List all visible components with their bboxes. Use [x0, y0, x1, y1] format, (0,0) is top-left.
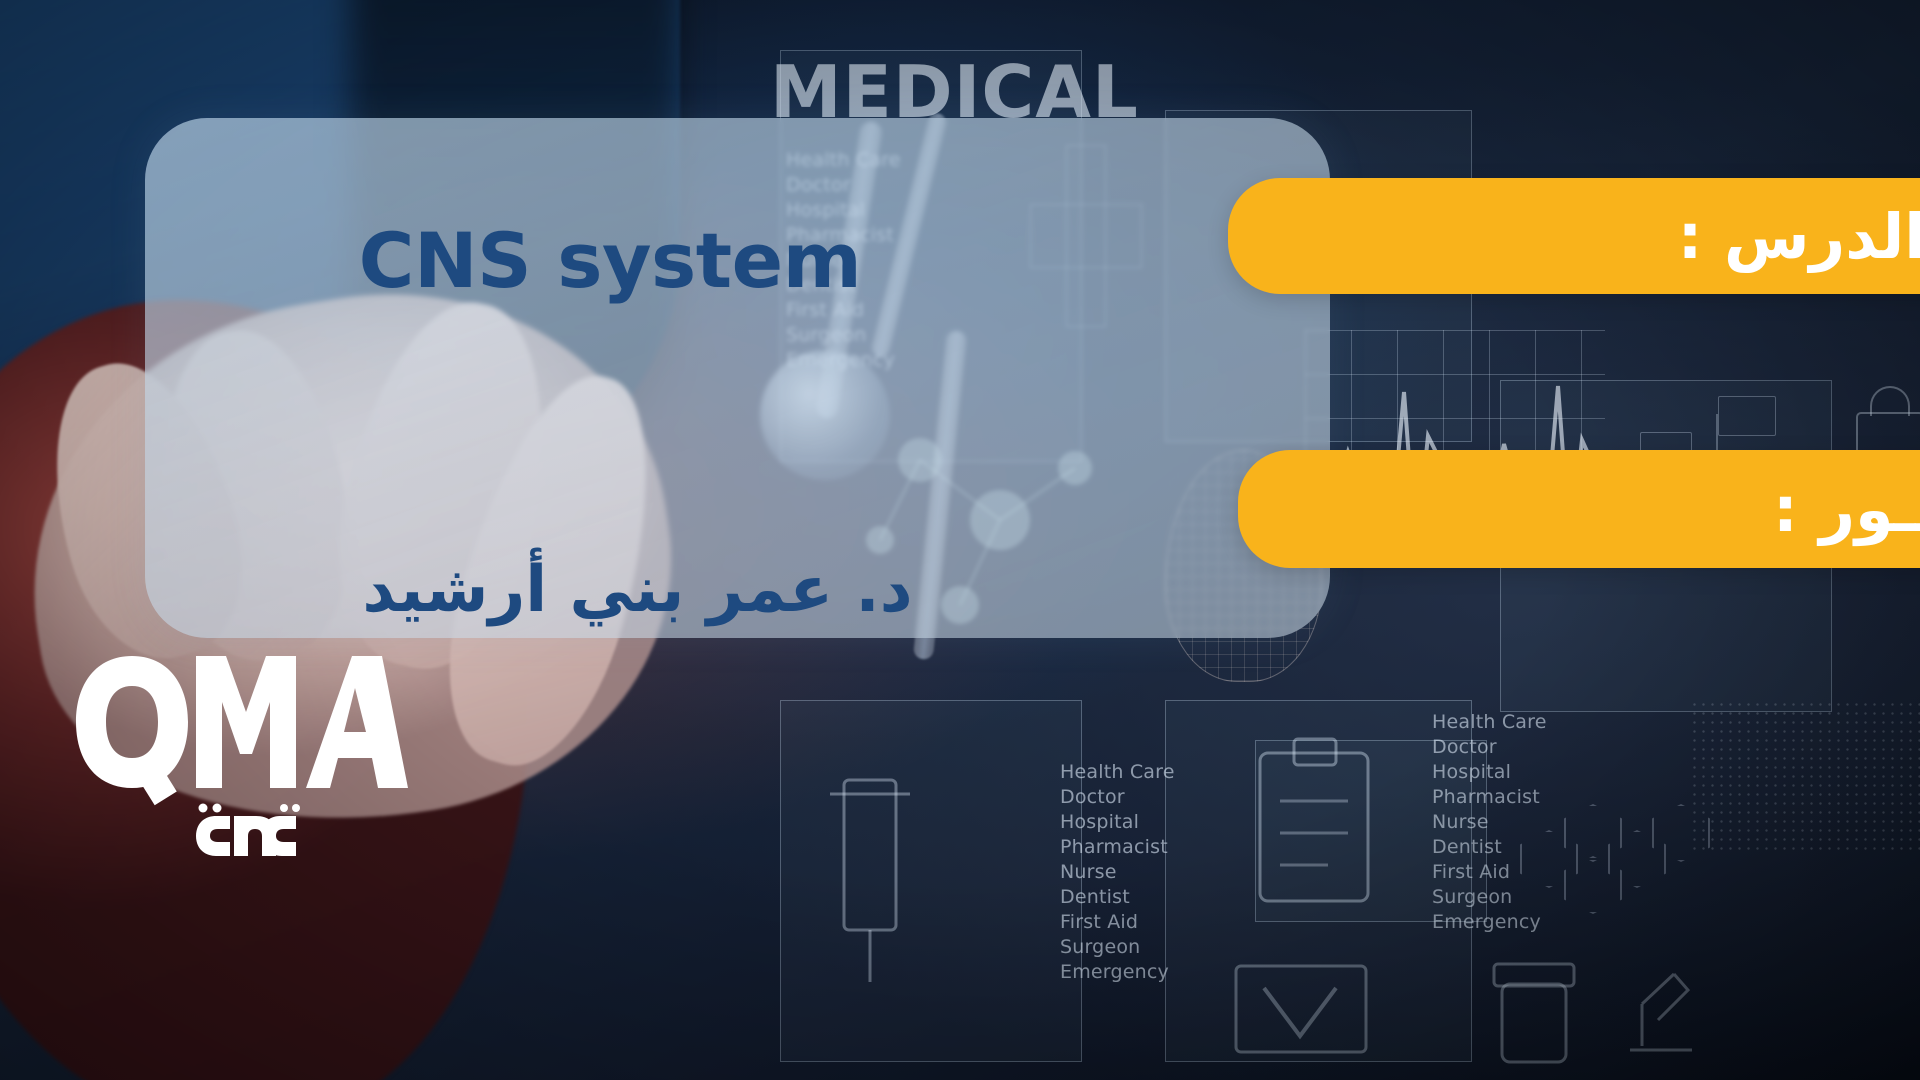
service-list-secondary: Health Care Doctor Hospital Pharmacist N…	[1060, 760, 1175, 985]
qma-logo	[70, 650, 410, 860]
doctor-label-badge: الدكتــور :	[1238, 450, 1920, 568]
network-node-icon	[1718, 396, 1776, 436]
lesson-title: CNS system	[145, 216, 1330, 305]
syringe-icon	[810, 760, 940, 990]
hexagon-cluster-icon	[1520, 800, 1750, 920]
clipboard-icon	[1250, 735, 1380, 910]
lesson-label-badge: اسم الدرس :	[1228, 178, 1920, 294]
poster-canvas: MEDICAL Health Care Doctor Hospital Phar…	[0, 0, 1920, 1080]
qma-logo-mark	[70, 650, 410, 865]
monitor-icon	[1230, 960, 1380, 1070]
lesson-card: CNS system د. عمر بني أرشيد	[145, 118, 1330, 638]
microscope-icon	[1600, 950, 1720, 1070]
pill-bottle-icon	[1480, 950, 1600, 1070]
doctor-name: د. عمر بني أرشيد	[145, 553, 1330, 627]
